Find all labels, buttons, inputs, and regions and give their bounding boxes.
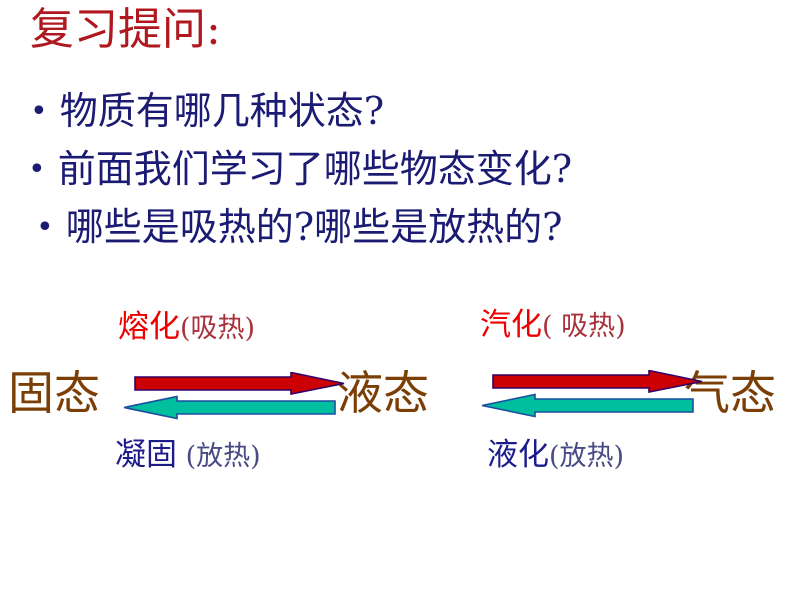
list-item: • 哪些是吸热的?哪些是放热的? [36, 208, 563, 246]
slide-canvas: 复习提问: • 物质有哪几种状态? • 前面我们学习了哪些物态变化? • 哪些是… [0, 0, 800, 600]
transition-name-vaporization: 汽化 [480, 307, 542, 343]
state-label-liquid: 液态 [337, 370, 429, 416]
arrow-left-liquefaction-icon [481, 392, 703, 418]
bullet-dot: • [30, 94, 48, 129]
state-label-solid: 固态 [8, 370, 100, 416]
page-title: 复习提问: [30, 8, 221, 52]
phase-change-diagram: 固态 液态 气态 熔化(吸热) 汽化( 吸热) 凝固 (放热) 液化(放热) [0, 300, 800, 500]
transition-label-melting: 熔化(吸热) [118, 312, 255, 343]
transition-name-freezing: 凝固 [115, 437, 177, 473]
list-item: • 物质有哪几种状态? [30, 92, 384, 130]
transition-label-freezing: 凝固 (放热) [115, 440, 261, 471]
bullet-dot: • [36, 210, 54, 245]
arrow-pair-solid-liquid [123, 372, 345, 422]
transition-label-liquefaction: 液化(放热) [487, 440, 624, 471]
transition-heat-vaporization: ( 吸热) [542, 311, 626, 342]
arrow-right-melting-icon [123, 372, 345, 396]
bullet-dot: • [28, 152, 46, 187]
list-item-label: 哪些是吸热的?哪些是放热的? [66, 205, 563, 249]
transition-name-melting: 熔化 [118, 309, 180, 345]
list-item-label: 前面我们学习了哪些物态变化? [58, 147, 572, 191]
arrow-pair-liquid-gas [481, 370, 703, 420]
transition-heat-melting: (吸热) [180, 313, 255, 344]
list-item-label: 物质有哪几种状态? [60, 89, 384, 133]
transition-label-vaporization: 汽化( 吸热) [480, 310, 626, 341]
transition-name-liquefaction: 液化 [487, 437, 549, 473]
list-item: • 前面我们学习了哪些物态变化? [28, 150, 572, 188]
transition-heat-freezing: (放热) [177, 441, 261, 472]
transition-heat-liquefaction: (放热) [549, 441, 624, 472]
arrow-right-vaporization-icon [481, 370, 703, 394]
arrow-left-freezing-icon [123, 394, 345, 420]
